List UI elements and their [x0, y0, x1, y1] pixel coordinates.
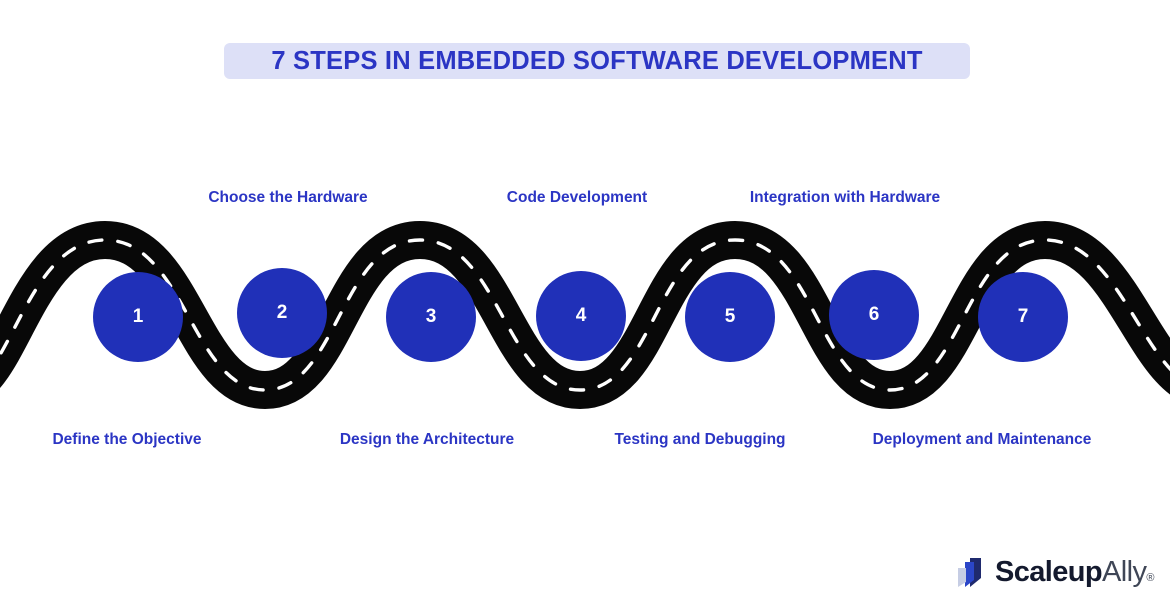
page-title: 7 STEPS IN EMBEDDED SOFTWARE DEVELOPMENT — [224, 43, 970, 79]
step-circle-3[interactable]: 3 — [386, 272, 476, 362]
step-circle-7[interactable]: 7 — [978, 272, 1068, 362]
infographic-canvas: 7 STEPS IN EMBEDDED SOFTWARE DEVELOPMENT… — [0, 0, 1170, 614]
step-label-7: Deployment and Maintenance — [873, 431, 1092, 449]
logo-registered-mark: ® — [1146, 572, 1154, 584]
step-circle-2[interactable]: 2 — [237, 268, 327, 358]
step-label-3: Design the Architecture — [340, 431, 514, 449]
step-circle-4[interactable]: 4 — [536, 271, 626, 361]
step-circle-5[interactable]: 5 — [685, 272, 775, 362]
step-label-4: Code Development — [507, 189, 647, 207]
step-label-5: Testing and Debugging — [614, 431, 785, 449]
step-circle-1[interactable]: 1 — [93, 272, 183, 362]
logo-word-scaleup: Scaleup — [995, 556, 1102, 588]
logo-word-ally: Ally — [1102, 556, 1146, 588]
scaleupally-logo-text: ScaleupAlly® — [995, 558, 1154, 587]
scaleupally-logo-mark-icon — [957, 556, 988, 589]
step-label-1: Define the Objective — [52, 431, 201, 449]
scaleupally-logo: ScaleupAlly® — [957, 550, 1154, 594]
step-label-6: Integration with Hardware — [750, 189, 940, 207]
step-circle-6[interactable]: 6 — [829, 270, 919, 360]
step-label-2: Choose the Hardware — [208, 189, 367, 207]
